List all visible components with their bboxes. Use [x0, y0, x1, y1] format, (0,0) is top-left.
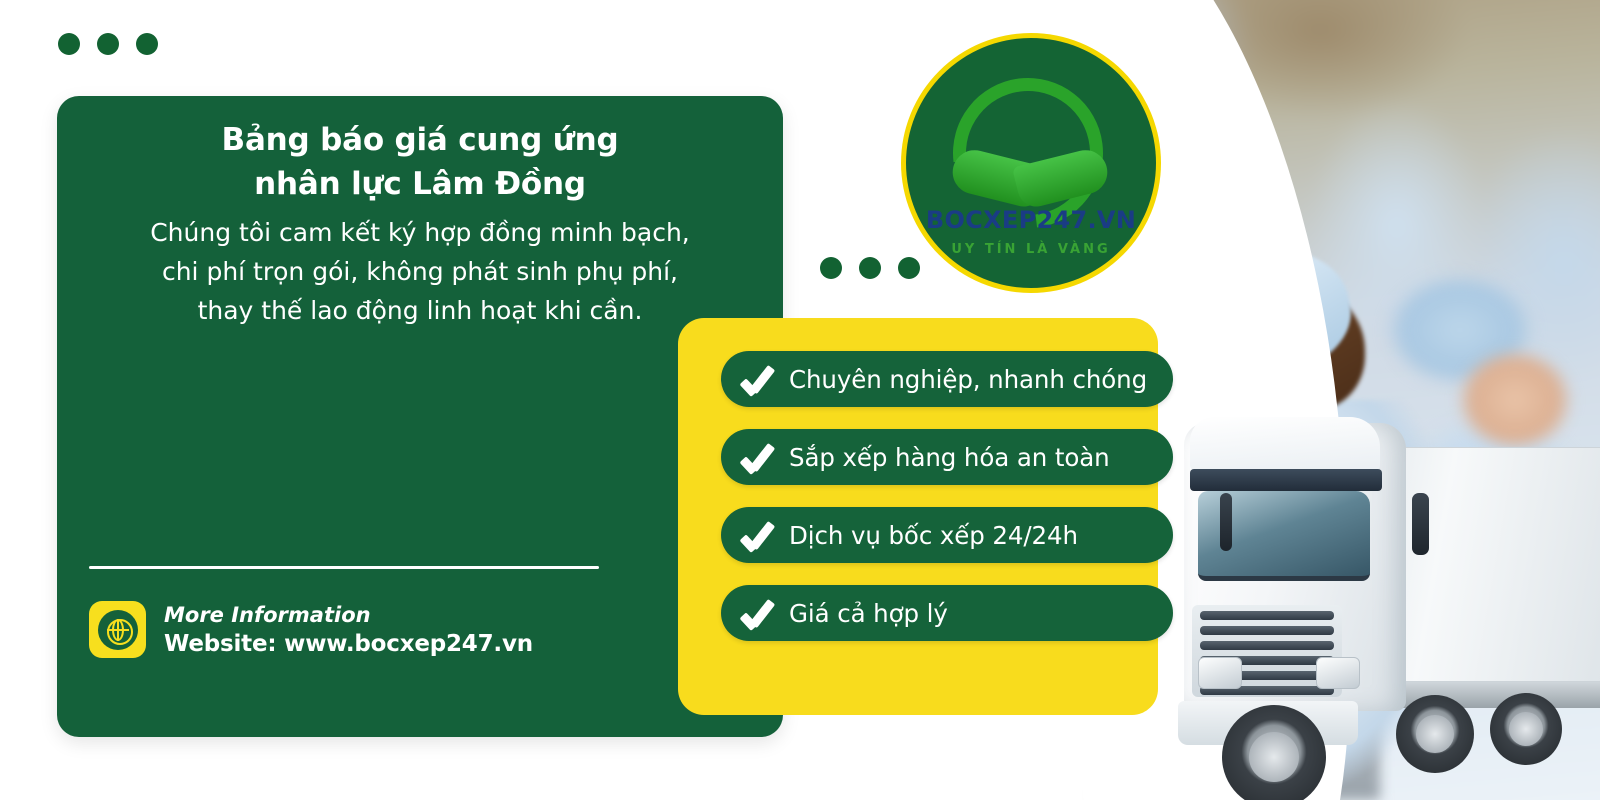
truck-wheel-mid: [1396, 695, 1474, 773]
divider: [89, 566, 599, 569]
list-item: Chuyên nghiệp, nhanh chóng: [721, 351, 1173, 407]
green-info-card: Bảng báo giá cung ứng nhân lực Lâm Đồng …: [57, 96, 783, 737]
dot: [58, 33, 80, 55]
page-subtitle-line-3: thay thế lao động linh hoạt khi cần.: [57, 292, 783, 331]
list-item: Dịch vụ bốc xếp 24/24h: [721, 507, 1173, 563]
feature-label: Sắp xếp hàng hóa an toàn: [789, 443, 1110, 472]
website-label[interactable]: Website: www.bocxep247.vn: [164, 631, 533, 657]
more-information-label: More Information: [164, 603, 533, 627]
feature-label: Dịch vụ bốc xếp 24/24h: [789, 521, 1078, 550]
globe-icon-ellipse: [112, 619, 124, 641]
white-semi-truck-illustration: [1160, 405, 1600, 800]
promo-banner: BOCXEP247.VN UY TÍN LÀ VÀNG Bảng báo giá…: [0, 0, 1600, 800]
dot: [859, 257, 881, 279]
dot: [898, 257, 920, 279]
truck-trailer: [1375, 447, 1600, 682]
page-title-line-2: nhân lực Lâm Đồng: [57, 162, 783, 206]
dot: [820, 257, 842, 279]
dot: [97, 33, 119, 55]
decorative-dots-top-left: [58, 33, 158, 55]
check-icon: [741, 364, 779, 394]
page-subtitle-line-1: Chúng tôi cam kết ký hợp đồng minh bạch,: [57, 214, 783, 253]
decorative-dots-middle: [820, 257, 920, 279]
handshake-circle-logo: BOCXEP247.VN UY TÍN LÀ VÀNG: [906, 38, 1156, 288]
list-item: Giá cả hợp lý: [721, 585, 1173, 641]
globe-icon: [89, 601, 146, 658]
page-subtitle: Chúng tôi cam kết ký hợp đồng minh bạch,…: [57, 214, 783, 330]
feature-list: Chuyên nghiệp, nhanh chóng Sắp xếp hàng …: [721, 351, 1173, 641]
more-information-block[interactable]: More Information Website: www.bocxep247.…: [89, 601, 533, 658]
page-subtitle-line-2: chi phí trọn gói, không phát sinh phụ ph…: [57, 253, 783, 292]
feature-label: Chuyên nghiệp, nhanh chóng: [789, 365, 1147, 394]
logo-slogan-text: UY TÍN LÀ VÀNG: [906, 242, 1156, 257]
page-title-line-1: Bảng báo giá cung ứng: [57, 118, 783, 162]
truck-mirror-arm: [1220, 493, 1232, 551]
dot: [136, 33, 158, 55]
truck-wheel-rear: [1490, 693, 1562, 765]
page-title: Bảng báo giá cung ứng nhân lực Lâm Đồng: [57, 118, 783, 206]
check-icon: [741, 520, 779, 550]
truck-headlight-right: [1316, 657, 1360, 689]
truck-roof-deflector: [1190, 417, 1380, 471]
check-icon: [741, 442, 779, 472]
globe-icon-circle: [98, 610, 138, 650]
truck-sun-visor: [1190, 469, 1382, 491]
truck-headlight-left: [1198, 657, 1242, 689]
check-icon: [741, 598, 779, 628]
feature-label: Giá cả hợp lý: [789, 599, 948, 628]
truck-side-mirror: [1412, 493, 1429, 555]
more-information-text: More Information Website: www.bocxep247.…: [164, 603, 533, 657]
globe-icon-meridian: [107, 629, 129, 631]
logo-brand-text: BOCXEP247.VN: [906, 206, 1156, 234]
yellow-features-card: Chuyên nghiệp, nhanh chóng Sắp xếp hàng …: [678, 318, 1158, 715]
logo-hand-right: [1012, 146, 1112, 211]
truck-wheel-front: [1222, 705, 1326, 800]
list-item: Sắp xếp hàng hóa an toàn: [721, 429, 1173, 485]
